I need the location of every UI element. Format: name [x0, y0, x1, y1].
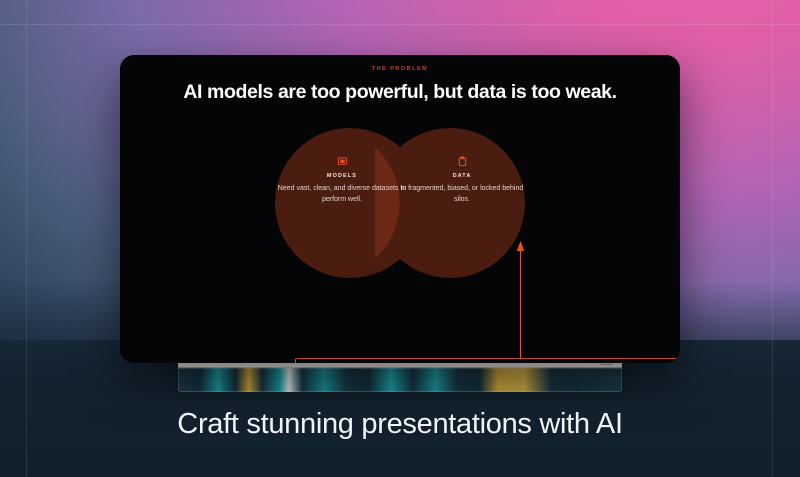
venn-label-models: MODELS	[277, 173, 407, 179]
background-gridline-horizontal-top	[0, 24, 800, 25]
venn-description-data: Is fragmented, biased, or locked behind …	[397, 183, 527, 205]
monitor-icon	[337, 156, 348, 167]
presentation-slide-card[interactable]: THE PROBLEM AI models are too powerful, …	[120, 55, 680, 363]
venn-label-data: DATA	[397, 173, 527, 179]
venn-diagram: MODELS Need vast, clean, and diverse dat…	[120, 128, 680, 278]
clipboard-icon	[457, 156, 468, 167]
up-arrow-icon	[516, 240, 525, 358]
background-gridline-vertical-right	[772, 0, 773, 477]
slide-headline: AI models are too powerful, but data is …	[120, 81, 680, 104]
callout-box: The gap between model power and data qua…	[295, 358, 680, 363]
slide-eyebrow-label: THE PROBLEM	[120, 66, 680, 72]
background-gridline-vertical-left	[26, 0, 27, 477]
background-slide-imagery	[178, 368, 622, 392]
venn-section-data: DATA Is fragmented, biased, or locked be…	[397, 156, 527, 205]
venn-section-models: MODELS Need vast, clean, and diverse dat…	[277, 156, 407, 205]
venn-description-models: Need vast, clean, and diverse datasets t…	[277, 183, 407, 205]
page-caption: Craft stunning presentations with AI	[0, 408, 800, 441]
